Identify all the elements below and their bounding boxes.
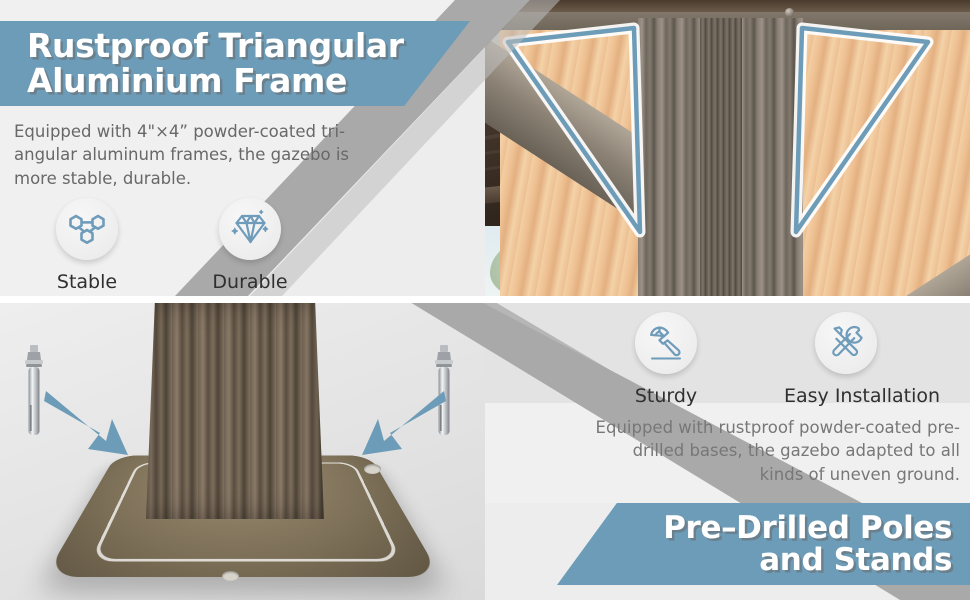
- feature-stable: Stable: [25, 198, 149, 293]
- wrench-screwdriver-icon: [815, 312, 877, 374]
- bottom-right-body-text: Equipped with rustproof powder-coated pr…: [592, 416, 960, 486]
- triangle-highlight-right: [485, 0, 970, 296]
- pointer-arrow-left: [44, 387, 154, 471]
- molecule-hexagons-icon: [56, 198, 118, 260]
- feature-easy-installation-label: Easy Installation: [784, 385, 908, 407]
- hammer-icon: [635, 312, 697, 374]
- pointer-arrow-right: [336, 387, 446, 471]
- feature-durable: Durable: [188, 198, 312, 293]
- base-plate-photo: [0, 303, 485, 600]
- feature-durable-label: Durable: [188, 271, 312, 293]
- bottom-banner-line1: Pre–Drilled Poles: [663, 512, 952, 544]
- drilled-hole: [222, 571, 239, 581]
- gazebo-corner-photo-panel: [485, 0, 970, 296]
- bottom-banner-line2: and Stands: [663, 544, 952, 576]
- top-banner-line2: Aluminium Frame: [27, 64, 404, 98]
- base-plate-photo-panel: [0, 303, 485, 600]
- gazebo-corner-photo: [485, 0, 970, 296]
- feature-sturdy-label: Sturdy: [604, 385, 728, 407]
- top-banner: Rustproof Triangular Aluminium Frame: [0, 21, 470, 106]
- horizontal-divider: [0, 296, 970, 303]
- bottom-banner-text: Pre–Drilled Poles and Stands: [663, 512, 970, 576]
- top-left-body-text: Equipped with 4"×4” powder-coated tri-an…: [14, 120, 389, 190]
- top-banner-text: Rustproof Triangular Aluminium Frame: [0, 29, 404, 98]
- infographic-root: Rustproof Triangular Aluminium Frame Equ…: [0, 0, 970, 600]
- top-banner-line1: Rustproof Triangular: [27, 29, 404, 63]
- feature-easy-installation: Easy Installation: [784, 312, 908, 407]
- gazebo-post: [146, 303, 324, 519]
- diamond-gem-icon: [219, 198, 281, 260]
- feature-stable-label: Stable: [25, 271, 149, 293]
- feature-sturdy: Sturdy: [604, 312, 728, 407]
- bottom-banner: Pre–Drilled Poles and Stands: [557, 503, 970, 585]
